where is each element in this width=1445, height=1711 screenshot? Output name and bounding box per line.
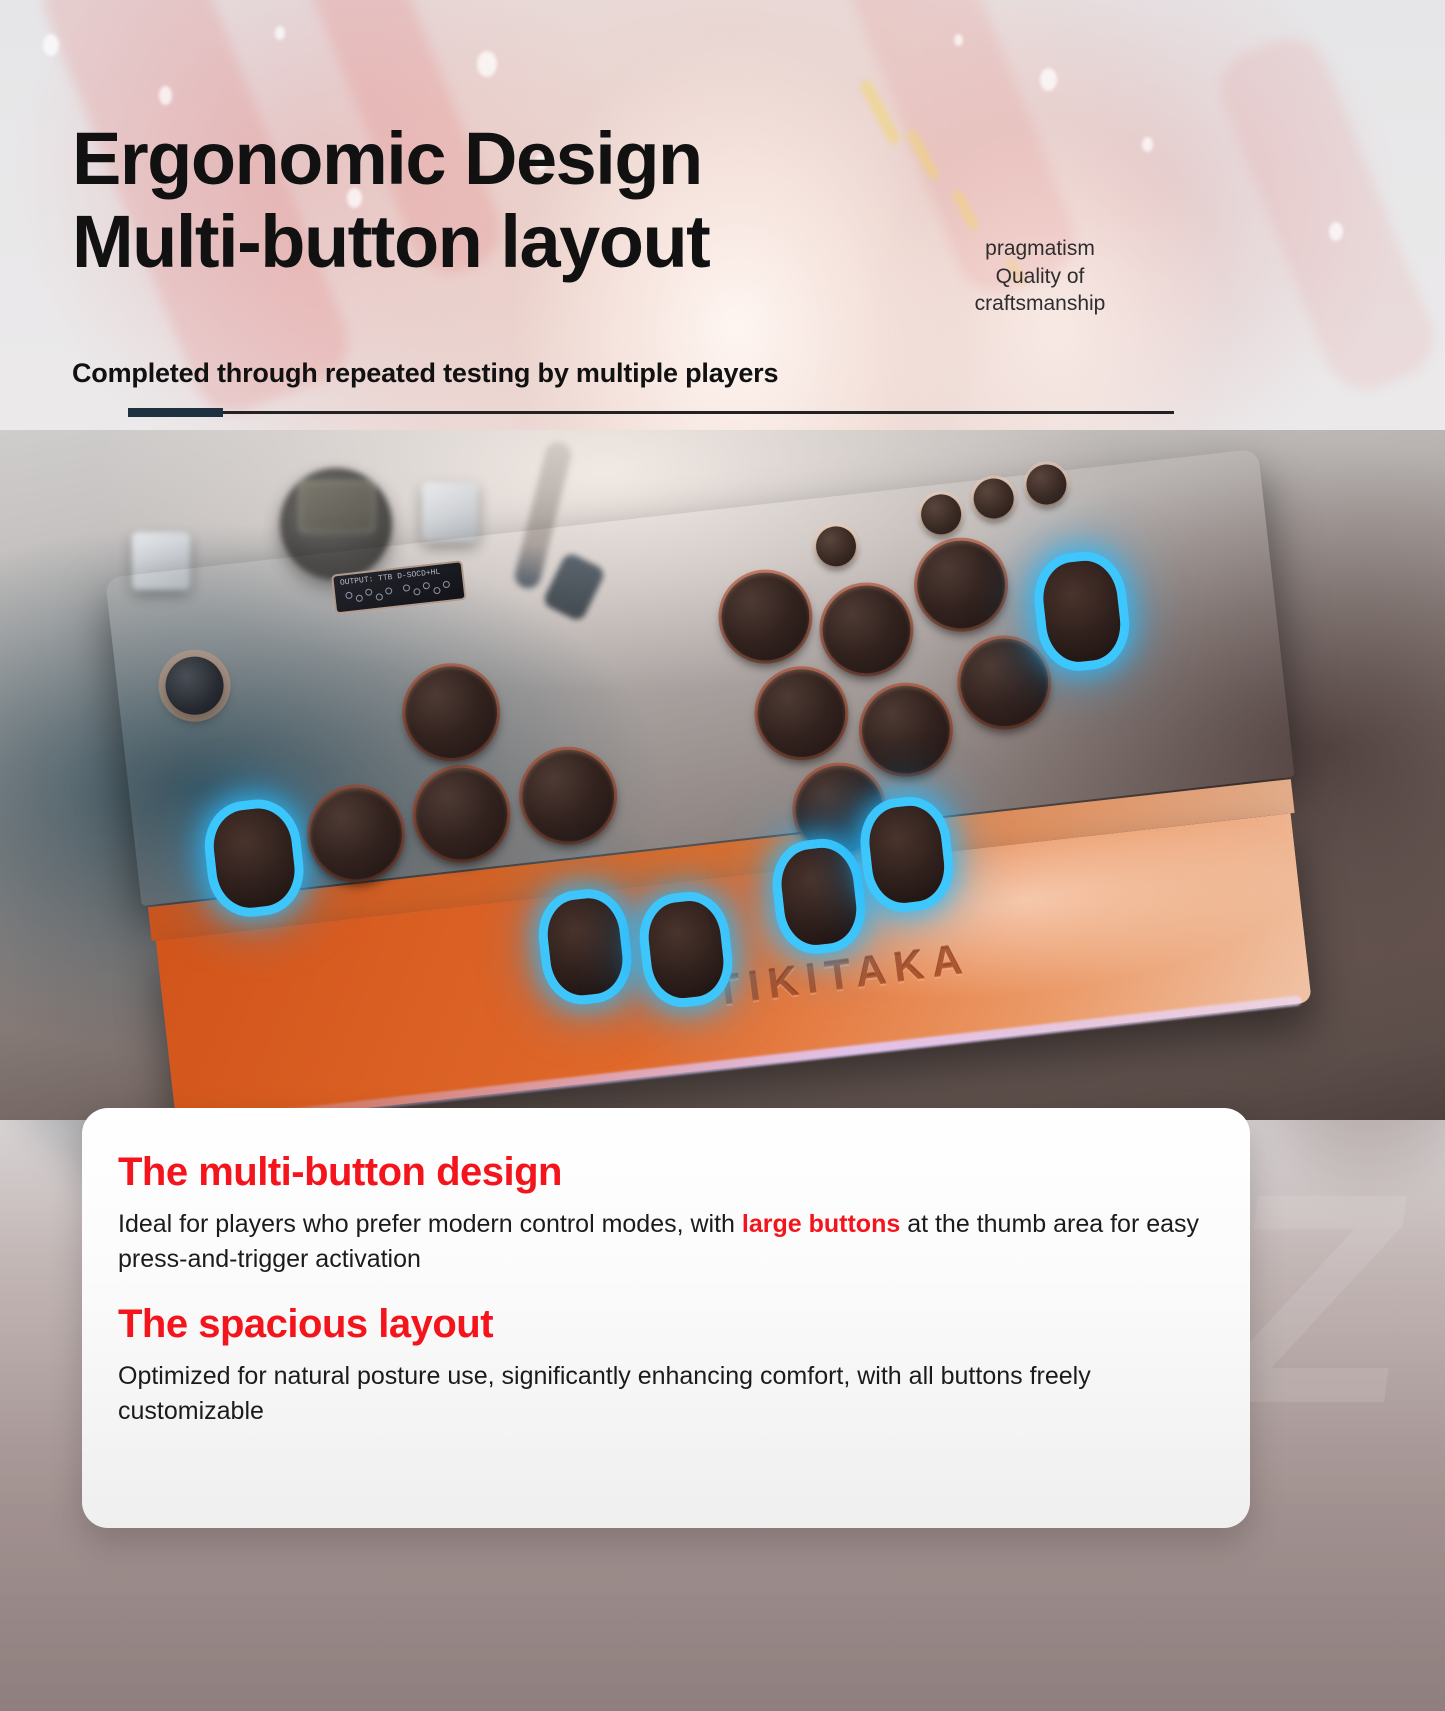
photo-part-pcb: [298, 480, 376, 534]
divider-line: [128, 411, 1174, 414]
background-speck: [954, 34, 963, 46]
divider-accent-cap: [128, 408, 223, 417]
background-speck: [275, 26, 285, 40]
section-body-highlight: large buttons: [742, 1210, 900, 1238]
section-body-text-before: Optimized for natural posture use, signi…: [118, 1362, 1091, 1425]
product-photo: TIKITAKA OUTPUT: TTB D-SOCD+HL: [0, 430, 1445, 1120]
subtitle: Completed through repeated testing by mu…: [72, 358, 778, 389]
side-note-line-1: pragmatism: [955, 235, 1125, 263]
info-card: The multi-button design Ideal for player…: [82, 1108, 1250, 1528]
side-note-line-2: Quality of: [955, 263, 1125, 291]
info-section-multi-button: The multi-button design Ideal for player…: [118, 1150, 1214, 1276]
section-body-spacious-layout: Optimized for natural posture use, signi…: [118, 1359, 1208, 1428]
side-note-line-3: craftsmanship: [955, 290, 1125, 318]
side-note: pragmatism Quality of craftsmanship: [955, 235, 1125, 318]
title-line-2: Multi-button layout: [72, 201, 709, 284]
photo-part-switch: [422, 482, 478, 542]
background-speck: [477, 51, 497, 77]
info-section-spacious-layout: The spacious layout Optimized for natura…: [118, 1302, 1214, 1428]
section-body-text-before: Ideal for players who prefer modern cont…: [118, 1210, 742, 1238]
section-title-multi-button: The multi-button design: [118, 1150, 1214, 1195]
page-title: Ergonomic Design Multi-button layout: [72, 118, 709, 284]
section-title-spacious-layout: The spacious layout: [118, 1302, 1214, 1347]
divider: [128, 411, 1174, 414]
background-speck: [1142, 137, 1153, 152]
background-speck: [159, 86, 172, 105]
section-body-multi-button: Ideal for players who prefer modern cont…: [118, 1207, 1208, 1276]
title-line-1: Ergonomic Design: [72, 118, 709, 201]
